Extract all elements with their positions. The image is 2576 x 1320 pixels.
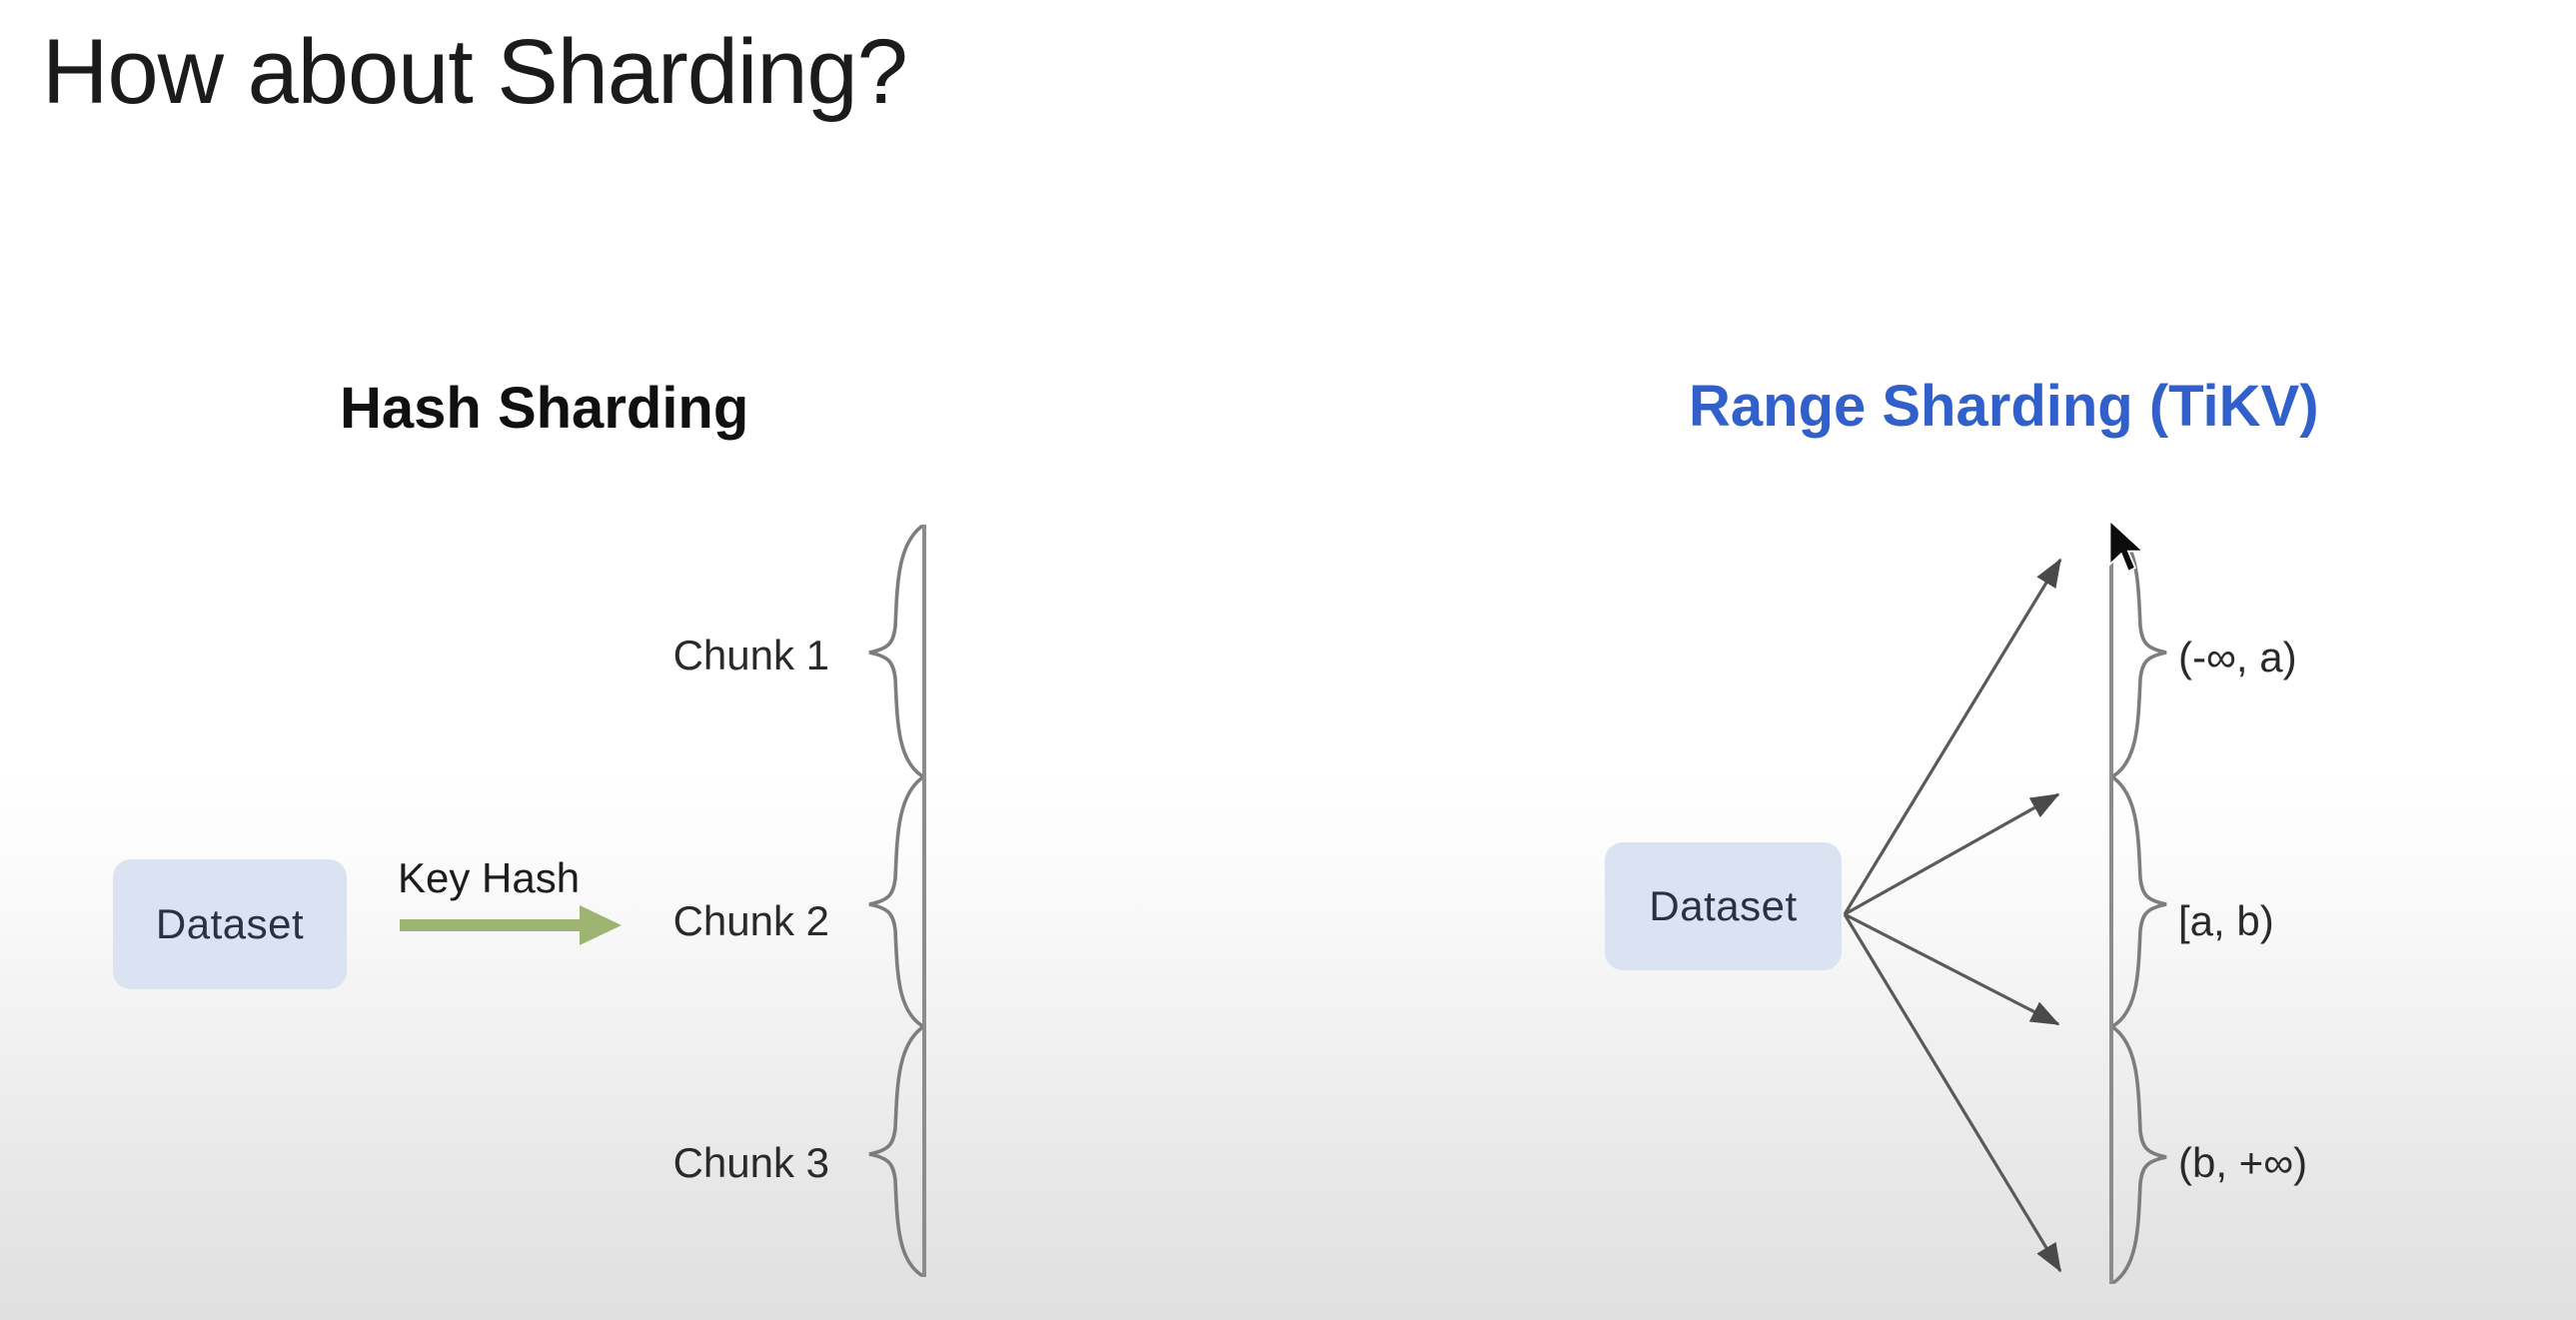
range-label-b-pos-inf: (b, +∞) xyxy=(2178,1139,2307,1187)
dataset-box-range-label: Dataset xyxy=(1649,882,1797,930)
range-brace-3 xyxy=(2114,1028,2166,1282)
range-brace-2 xyxy=(2114,778,2166,1025)
range-sharding-heading: Range Sharding (TiKV) xyxy=(1689,378,2319,436)
page-title: How about Sharding? xyxy=(42,24,907,121)
range-label-a-b: [a, b) xyxy=(2178,897,2274,945)
hash-brace-2 xyxy=(869,778,921,1025)
dataset-box-hash: Dataset xyxy=(113,859,347,989)
hash-brace-3 xyxy=(869,1028,921,1275)
range-fanout-arrow-2 xyxy=(1845,794,2058,914)
range-fanout-arrow-1 xyxy=(1845,560,2060,914)
hash-sharding-heading: Hash Sharding xyxy=(340,380,748,438)
chunk-label-3: Chunk 3 xyxy=(530,1139,829,1187)
slide-canvas: How about Sharding? Hash Sharding Range … xyxy=(0,0,2576,1320)
key-hash-label: Key Hash xyxy=(398,854,580,902)
range-fanout-arrow-4 xyxy=(1845,914,2060,1271)
hash-brace-1 xyxy=(869,527,921,775)
range-fanout-arrows xyxy=(1845,560,2060,1271)
range-label-neg-inf-a: (-∞, a) xyxy=(2178,634,2297,681)
range-fanout-arrow-3 xyxy=(1845,914,2058,1024)
chunk-label-2: Chunk 2 xyxy=(530,897,829,945)
dataset-box-hash-label: Dataset xyxy=(156,900,304,948)
mouse-cursor-icon xyxy=(2106,518,2148,580)
chunk-label-1: Chunk 1 xyxy=(530,632,829,679)
dataset-box-range: Dataset xyxy=(1605,842,1842,970)
